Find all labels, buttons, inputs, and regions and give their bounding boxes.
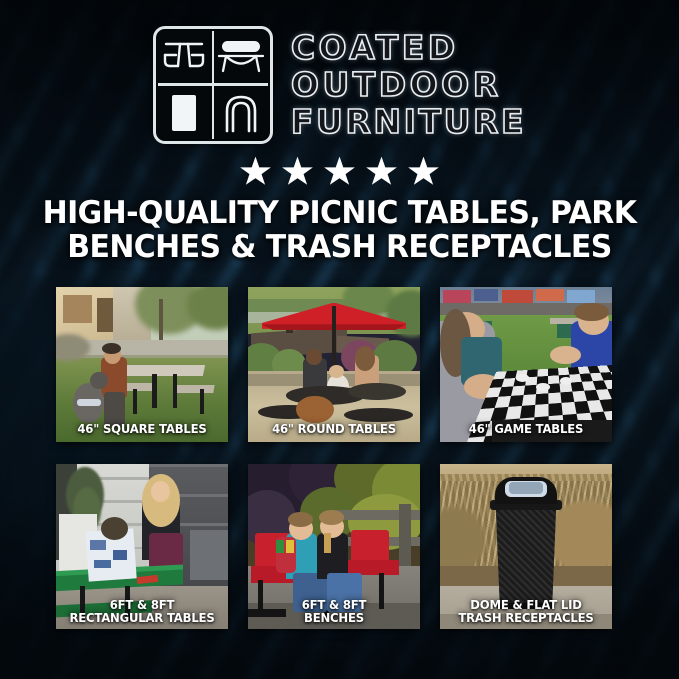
brand-line-2: OUTDOOR (291, 67, 526, 103)
star-icon (324, 157, 356, 188)
picnic-table-icon (156, 29, 213, 85)
product-tile-square-tables[interactable]: 46" SQUARE TABLES (56, 287, 228, 442)
product-caption: DOME & FLAT LID TRASH RECEPTACLES (445, 598, 607, 625)
headline-line-2: BENCHES & TRASH RECEPTACLES (17, 230, 662, 264)
product-caption-line-1: DOME & FLAT LID (445, 598, 607, 612)
product-caption: 6FT & 8FT RECTANGULAR TABLES (61, 598, 223, 625)
product-caption-line-2: TRASH RECEPTACLES (445, 611, 607, 625)
product-tile-round-tables[interactable]: 46" ROUND TABLES (248, 287, 420, 442)
product-caption: 6FT & 8FT BENCHES (253, 598, 415, 625)
brand-line-3: FURNITURE (291, 104, 526, 140)
brand-line-1: COATED (291, 30, 526, 66)
product-tile-rectangular-tables[interactable]: 6FT & 8FT RECTANGULAR TABLES (56, 464, 228, 629)
page-title: HIGH-QUALITY PICNIC TABLES, PARK BENCHES… (17, 196, 662, 264)
brand-wordmark: COATED OUTDOOR FURNITURE (291, 30, 526, 140)
product-photo-round-tables (248, 287, 420, 442)
star-icon (366, 157, 398, 188)
product-caption: 46" GAME TABLES (445, 422, 607, 436)
star-rating (0, 152, 679, 192)
logo-icon-grid (153, 26, 273, 144)
product-caption-line-1: 6FT & 8FT (253, 598, 415, 612)
product-banner: COATED OUTDOOR FURNITURE HIGH-QUALITY PI… (0, 0, 679, 679)
product-caption-line-2: RECTANGULAR TABLES (61, 611, 223, 625)
product-grid: 46" SQUARE TABLES (56, 287, 624, 629)
star-icon (408, 157, 440, 188)
product-caption: 46" ROUND TABLES (253, 422, 415, 436)
product-photo-square-tables (56, 287, 228, 442)
product-caption-line-1: 6FT & 8FT (61, 598, 223, 612)
product-tile-benches[interactable]: 6FT & 8FT BENCHES (248, 464, 420, 629)
headline-line-1: HIGH-QUALITY PICNIC TABLES, PARK (17, 196, 662, 230)
product-tile-game-tables[interactable]: 46" GAME TABLES (440, 287, 612, 442)
star-icon (282, 157, 314, 188)
product-photo-game-tables (440, 287, 612, 442)
product-caption: 46" SQUARE TABLES (61, 422, 223, 436)
product-caption-line-2: BENCHES (253, 611, 415, 625)
arch-bike-rack-icon (213, 85, 270, 141)
product-tile-trash-receptacles[interactable]: DOME & FLAT LID TRASH RECEPTACLES (440, 464, 612, 629)
star-icon (240, 157, 272, 188)
bench-icon (213, 29, 270, 85)
brand-logo: COATED OUTDOOR FURNITURE (0, 22, 679, 147)
trash-can-icon (156, 85, 213, 141)
